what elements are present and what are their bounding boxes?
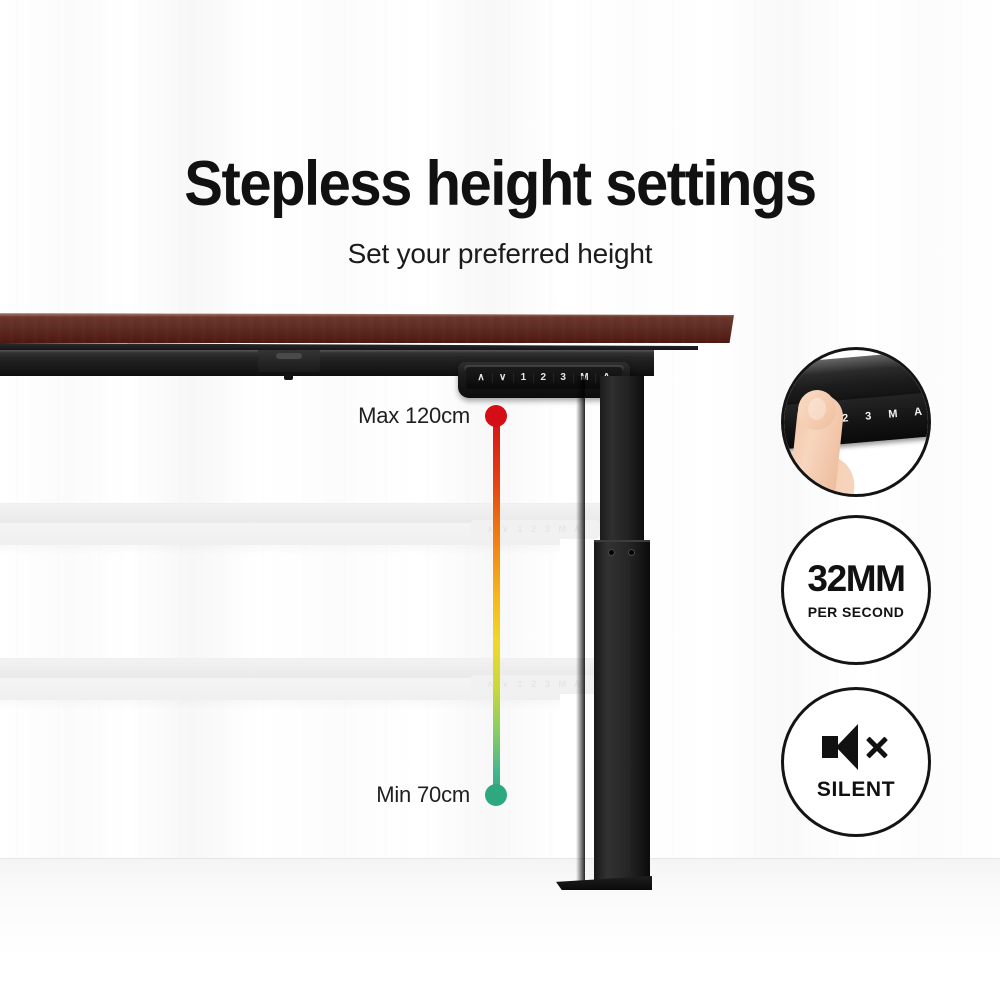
height-range-gradient-line [493, 412, 500, 794]
leg-bolt-right [628, 549, 635, 556]
leg-shadow [576, 376, 585, 888]
min-height-label: Min 70cm [376, 782, 470, 808]
leg-bolt-left [608, 549, 615, 556]
leg-telescoping-seam [594, 540, 650, 542]
product-feature-image: Stepless height settings Set your prefer… [0, 0, 1000, 1000]
key-preset-2[interactable]: 2 [533, 373, 553, 383]
badge-keypad-photo: 2 3 M A [781, 347, 931, 497]
max-height-marker-dot [485, 405, 507, 427]
page-title: Stepless height settings [40, 152, 960, 217]
speaker-cone [836, 724, 858, 770]
min-height-marker-dot [485, 784, 507, 806]
key-down[interactable]: ∨ [492, 373, 514, 383]
frame-crossbeam-highlight [0, 350, 654, 353]
mute-cross-icon [864, 734, 890, 760]
badge-speed-value: 32MM [807, 560, 904, 597]
frame-bracket-tab [284, 374, 293, 380]
background-floor [0, 858, 1000, 1000]
page-subtitle: Set your preferred height [0, 238, 1000, 270]
key-preset-1[interactable]: 1 [513, 373, 533, 383]
frame-bracket-slot [276, 353, 302, 359]
badge-silent: SILENT [781, 687, 931, 837]
keypad-face: ∧ ∨ 1 2 3 M A [466, 367, 622, 389]
leg-lower-segment [594, 540, 650, 888]
leg-upper-segment [600, 376, 644, 542]
badge-silent-label: SILENT [817, 778, 895, 802]
muted-speaker-icon [816, 722, 896, 772]
key-up[interactable]: ∧ [471, 373, 492, 383]
desktop-woodgrain [0, 313, 734, 343]
floor-horizon-line [0, 858, 1000, 859]
max-height-label: Max 120cm [358, 403, 470, 429]
badge-speed: 32MM PER SECOND [781, 515, 931, 665]
key-preset-3[interactable]: 3 [553, 373, 573, 383]
badge-speed-unit: PER SECOND [808, 604, 905, 620]
